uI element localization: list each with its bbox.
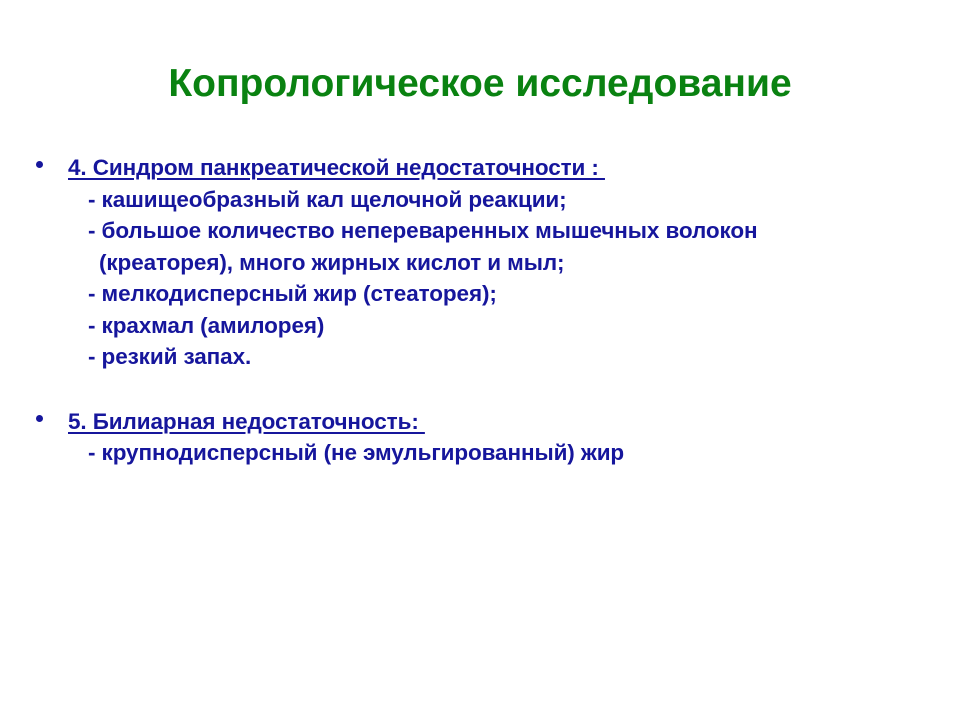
block-1-line-1: - кашищеобразный кал щелочной реакции; <box>68 184 928 216</box>
block-1-line-5: - крахмал (амилорея) <box>68 310 928 342</box>
block-2-line-1: - крупнодисперсный (не эмульгированный) … <box>68 437 928 469</box>
block-2-heading: 5. Билиарная недостаточность: <box>68 406 928 438</box>
block-2-lines: 5. Билиарная недостаточность: - крупноди… <box>68 406 928 469</box>
bullet-dot-icon <box>36 161 43 168</box>
block-1-line-4: - мелкодисперсный жир (стеаторея); <box>68 278 928 310</box>
bullet-dot-icon <box>36 415 43 422</box>
block-1-lines: 4. Синдром панкреатической недостаточнос… <box>68 152 928 373</box>
bullet-row-2: 5. Билиарная недостаточность: - крупноди… <box>0 406 960 469</box>
block-1-line-6: - резкий запах. <box>68 341 928 373</box>
block-1-heading: 4. Синдром панкреатической недостаточнос… <box>68 152 928 184</box>
bullet-row-1: 4. Синдром панкреатической недостаточнос… <box>0 152 960 373</box>
page-title: Копрологическое исследование <box>0 64 960 105</box>
slide-body: 4. Синдром панкреатической недостаточнос… <box>0 152 960 469</box>
block-1-line-2: - большое количество непереваренных мыше… <box>68 215 928 247</box>
block-1-line-3: (креаторея), много жирных кислот и мыл; <box>68 247 928 279</box>
slide-canvas: Копрологическое исследование 4. Синдром … <box>0 0 960 720</box>
bullet-block-2: 5. Билиарная недостаточность: - крупноди… <box>0 406 960 469</box>
bullet-block-1: 4. Синдром панкреатической недостаточнос… <box>0 152 960 373</box>
